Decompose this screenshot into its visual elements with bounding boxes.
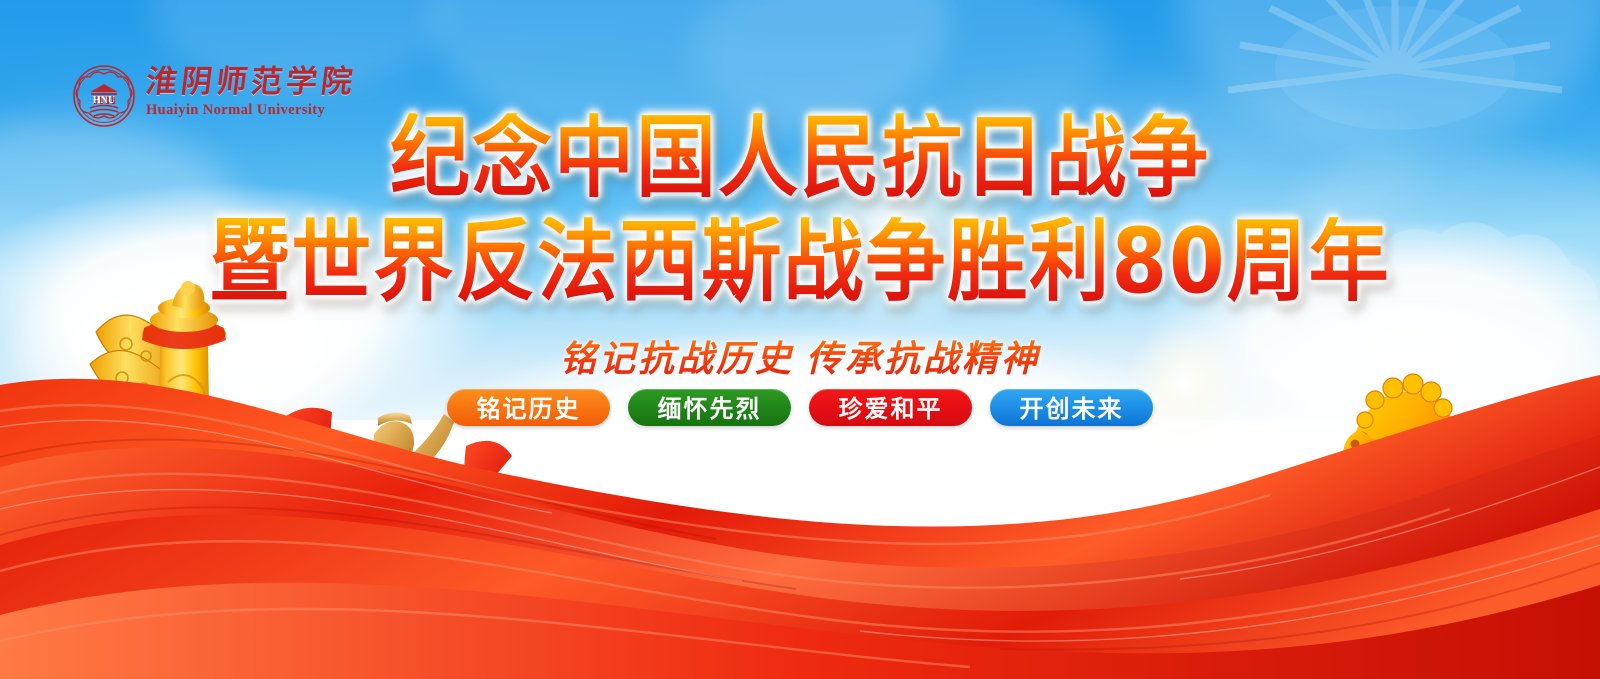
pill-label: 开创未来 [1020,389,1124,424]
pill-kai-chuang-wei-lai[interactable]: 开创未来 [990,389,1153,426]
slogan-pill-row: 铭记历史 缅怀先烈 珍爱和平 开创未来 [0,389,1600,426]
title-line-1: 纪念中国人民抗日战争 [390,113,1210,203]
university-name-en: Huaiyin Normal University [146,102,356,119]
pill-mian-huai-xian-lie[interactable]: 缅怀先烈 [628,389,791,426]
pill-zhen-ai-he-ping[interactable]: 珍爱和平 [809,389,972,426]
commemoration-banner: HNU 淮阴师范学院 Huaiyin Normal University 纪念中… [0,0,1600,679]
university-name-cn: 淮阴师范学院 [144,66,358,99]
logo-text-block: 淮阴师范学院 Huaiyin Normal University [146,64,356,119]
pill-label: 缅怀先烈 [658,389,762,424]
pill-label: 铭记历史 [477,389,581,424]
subtitle-slogan: 铭记抗战历史 传承抗战精神 [0,330,1600,382]
emblem-initials: HNU [93,95,115,106]
pill-ming-ji-li-shi[interactable]: 铭记历史 [447,389,610,426]
main-title: 纪念中国人民抗日战争 暨世界反法西斯战争胜利80周年 [0,118,1600,302]
pill-label: 珍爱和平 [839,389,943,424]
title-line-2: 暨世界反法西斯战争胜利80周年 [209,217,1390,307]
